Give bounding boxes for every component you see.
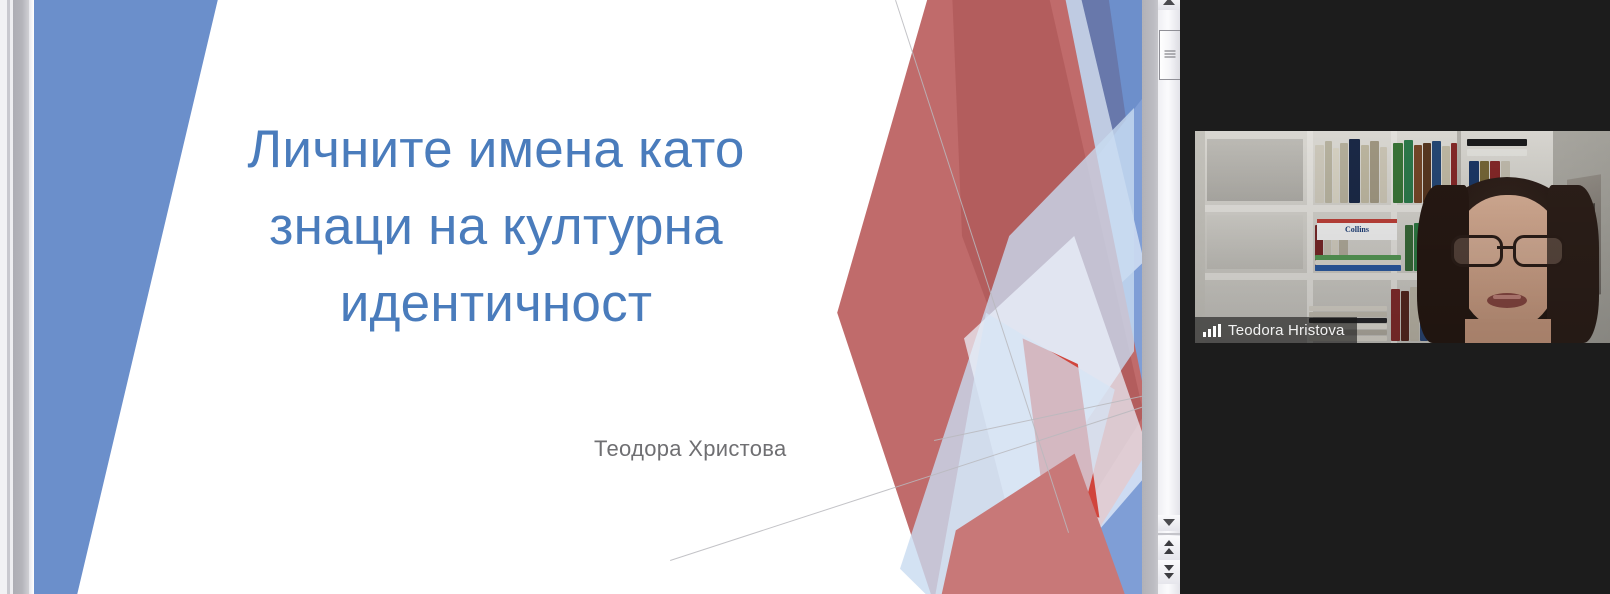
double-chevron-down-icon — [1164, 565, 1174, 571]
chevron-down-icon — [1163, 519, 1175, 526]
participant-name-plate: Teodora Hristova — [1195, 317, 1357, 343]
double-chevron-up-icon-2 — [1164, 548, 1174, 554]
scrollbar-track[interactable] — [1158, 0, 1180, 594]
screen-share-window: Личните имена като знаци на културна иде… — [0, 0, 1610, 594]
slide-title[interactable]: Личните имена като знаци на културна иде… — [156, 112, 836, 343]
chevron-up-icon — [1163, 0, 1175, 5]
video-vignette — [1195, 131, 1610, 343]
slide-title-line-2: знаци на културна — [156, 189, 836, 266]
workspace-gutter — [13, 0, 29, 594]
scroll-down-button[interactable] — [1158, 515, 1180, 531]
signal-bars-icon — [1203, 324, 1221, 337]
video-participant-panel: Collins — [1180, 0, 1610, 594]
next-slide-button[interactable] — [1158, 560, 1180, 584]
participant-name-label: Teodora Hristova — [1228, 322, 1345, 339]
vertical-scrollbar[interactable] — [1142, 0, 1180, 594]
slide-title-line-1: Личните имена като — [156, 112, 836, 189]
slide-author[interactable]: Теодора Христова — [594, 436, 1014, 462]
slide-title-line-3: идентичност — [156, 266, 836, 343]
scrollbar-thumb[interactable] — [1159, 30, 1181, 80]
double-chevron-down-icon-2 — [1164, 573, 1174, 579]
scroll-up-button[interactable] — [1158, 0, 1180, 10]
grip-icon — [1165, 51, 1176, 60]
participant-video-tile[interactable]: Collins — [1195, 131, 1610, 343]
window-edge-highlight — [0, 0, 7, 594]
previous-slide-button[interactable] — [1158, 536, 1180, 560]
slide-canvas[interactable]: Личните имена като знаци на културна иде… — [34, 0, 1142, 594]
double-chevron-up-icon — [1164, 540, 1174, 546]
scrollbar-separator — [1158, 533, 1180, 535]
presentation-viewport: Личните имена като знаци на културна иде… — [0, 0, 1180, 594]
